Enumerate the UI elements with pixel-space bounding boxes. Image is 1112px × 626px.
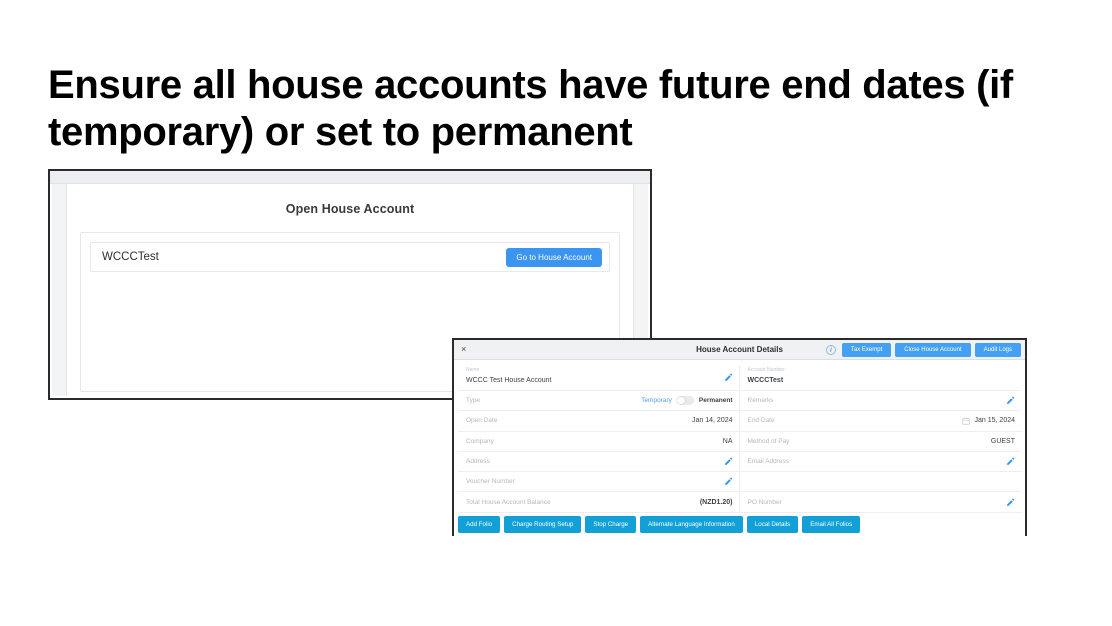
field-voucher-number[interactable]: Voucher Number bbox=[458, 472, 740, 492]
field-total-balance-value: (NZD1.20) bbox=[700, 499, 733, 506]
alternate-language-information-button[interactable]: Alternate Language Information bbox=[640, 516, 743, 533]
field-company[interactable]: Company NA bbox=[458, 432, 740, 452]
form-row: Type Temporary Permanent Remarks bbox=[458, 391, 1021, 411]
form-row: Company NA Method of Pay GUEST bbox=[458, 432, 1021, 452]
form-row: Name WCCC Test House Account Account Num… bbox=[458, 365, 1021, 391]
dialog-header-actions: i Tax Exempt Close House Account Audit L… bbox=[826, 343, 1021, 357]
field-name[interactable]: Name WCCC Test House Account bbox=[458, 365, 740, 391]
left-gutter bbox=[52, 184, 67, 396]
dialog-footer: Add Folio Charge Routing Setup Stop Char… bbox=[454, 513, 1025, 537]
toggle-knob bbox=[677, 397, 685, 405]
field-address-label: Address bbox=[466, 458, 490, 465]
field-total-balance-label: Total House Account Balance bbox=[466, 499, 551, 506]
field-account-number[interactable]: Account Number WCCCTest bbox=[740, 365, 1022, 391]
window-title-bar bbox=[50, 171, 650, 184]
field-type-label: Type bbox=[466, 397, 480, 404]
field-open-date-value: Jan 14, 2024 bbox=[692, 417, 732, 424]
field-method-of-pay[interactable]: Method of Pay GUEST bbox=[740, 432, 1022, 452]
field-name-value: WCCC Test House Account bbox=[466, 377, 551, 384]
close-house-account-button[interactable]: Close House Account bbox=[895, 343, 970, 357]
field-end-date-value: Jan 15, 2024 bbox=[975, 417, 1015, 424]
toggle-label-permanent[interactable]: Permanent bbox=[699, 397, 733, 404]
field-address[interactable]: Address bbox=[458, 452, 740, 472]
tax-exempt-button[interactable]: Tax Exempt bbox=[842, 343, 891, 357]
field-po-number[interactable]: PO Number bbox=[740, 492, 1022, 512]
edit-icon[interactable] bbox=[724, 477, 733, 486]
go-to-house-account-button[interactable]: Go to House Account bbox=[506, 248, 602, 267]
open-house-account-title: Open House Account bbox=[67, 184, 633, 216]
form-row: Voucher Number bbox=[458, 472, 1021, 492]
field-company-label: Company bbox=[466, 438, 494, 445]
charge-routing-setup-button[interactable]: Charge Routing Setup bbox=[504, 516, 581, 533]
house-account-row[interactable]: WCCCTest Go to House Account bbox=[90, 242, 610, 272]
field-end-date-label: End Date bbox=[748, 417, 775, 424]
field-voucher-number-label: Voucher Number bbox=[466, 478, 515, 485]
field-end-date[interactable]: End Date Jan 15, 2024 bbox=[740, 411, 1022, 431]
house-account-name: WCCCTest bbox=[102, 251, 159, 263]
field-method-of-pay-value: GUEST bbox=[991, 438, 1015, 445]
field-company-value: NA bbox=[723, 438, 733, 445]
info-icon[interactable]: i bbox=[826, 345, 836, 355]
close-icon[interactable]: × bbox=[461, 345, 466, 354]
email-all-folios-button[interactable]: Email All Folios bbox=[802, 516, 860, 533]
stop-charge-button[interactable]: Stop Charge bbox=[585, 516, 636, 533]
dialog-form: Name WCCC Test House Account Account Num… bbox=[454, 360, 1025, 513]
field-po-number-label: PO Number bbox=[748, 499, 782, 506]
field-blank bbox=[740, 472, 1022, 492]
field-account-number-label: Account Number bbox=[748, 367, 785, 373]
add-folio-button[interactable]: Add Folio bbox=[458, 516, 500, 533]
field-type[interactable]: Type Temporary Permanent bbox=[458, 391, 740, 411]
field-email-address-label: Email Address bbox=[748, 458, 790, 465]
field-open-date-label: Open Date bbox=[466, 417, 497, 424]
field-remarks[interactable]: Remarks bbox=[740, 391, 1022, 411]
field-open-date[interactable]: Open Date Jan 14, 2024 bbox=[458, 411, 740, 431]
field-account-number-value: WCCCTest bbox=[748, 377, 784, 384]
edit-icon[interactable] bbox=[1006, 498, 1015, 507]
type-toggle-switch[interactable] bbox=[677, 396, 694, 405]
form-row: Open Date Jan 14, 2024 End Date Jan 15, … bbox=[458, 411, 1021, 431]
audit-logs-button[interactable]: Audit Logs bbox=[975, 343, 1021, 357]
field-total-balance[interactable]: Total House Account Balance (NZD1.20) bbox=[458, 492, 740, 512]
field-name-label: Name bbox=[466, 367, 479, 373]
field-email-address[interactable]: Email Address bbox=[740, 452, 1022, 472]
edit-icon[interactable] bbox=[1006, 457, 1015, 466]
house-account-details-dialog: × House Account Details i Tax Exempt Clo… bbox=[452, 338, 1027, 536]
field-method-of-pay-label: Method of Pay bbox=[748, 438, 790, 445]
calendar-icon[interactable] bbox=[962, 417, 970, 425]
local-details-button[interactable]: Local Details bbox=[747, 516, 798, 533]
field-remarks-label: Remarks bbox=[748, 397, 774, 404]
dialog-header: × House Account Details i Tax Exempt Clo… bbox=[454, 340, 1025, 360]
edit-icon[interactable] bbox=[724, 457, 733, 466]
type-toggle-group: Temporary Permanent bbox=[641, 396, 732, 405]
page-title: Ensure all house accounts have future en… bbox=[48, 62, 1068, 156]
form-row: Address Email Address bbox=[458, 452, 1021, 472]
form-row: Total House Account Balance (NZD1.20) PO… bbox=[458, 492, 1021, 512]
edit-icon[interactable] bbox=[1006, 396, 1015, 405]
toggle-label-temporary[interactable]: Temporary bbox=[641, 397, 672, 404]
edit-icon[interactable] bbox=[724, 373, 733, 382]
